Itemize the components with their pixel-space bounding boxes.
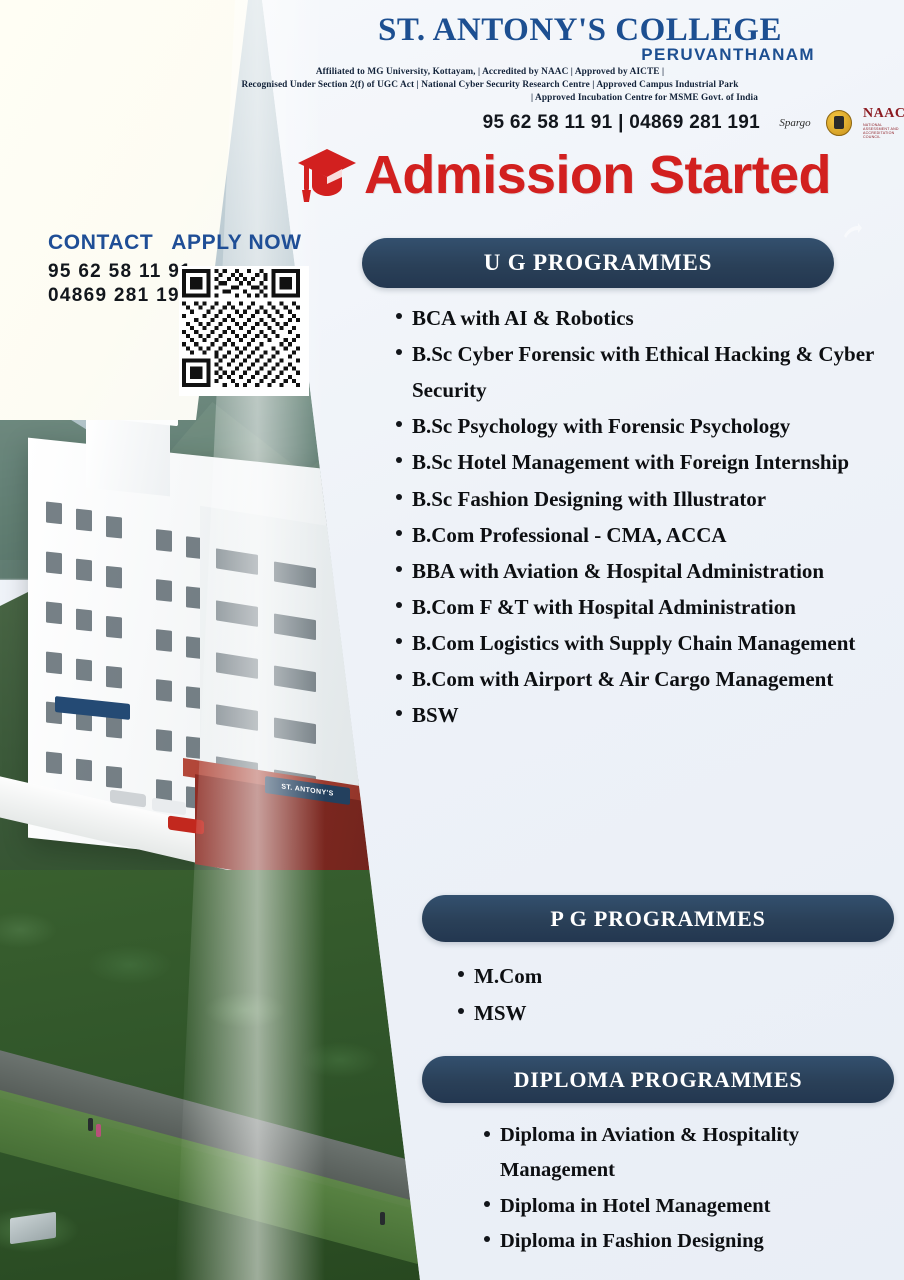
pedestrian — [88, 1118, 93, 1131]
diploma-programmes-list: Diploma in Aviation & Hospitality Manage… — [462, 1118, 904, 1259]
affiliation-line-2: Recognised Under Section 2(f) of UGC Act… — [200, 79, 780, 92]
pg-programmes-banner: P G PROGRAMMES — [422, 895, 894, 942]
list-item: MSW — [458, 995, 898, 1032]
naac-sublabel: NATIONAL ASSESSMENT AND ACCREDITATION CO… — [863, 123, 904, 139]
list-item: BSW — [396, 697, 904, 733]
list-item: BBA with Aviation & Hospital Administrat… — [396, 553, 904, 589]
list-item: Diploma in Hotel Management — [484, 1189, 904, 1224]
contact-label: Contact — [48, 232, 153, 253]
college-location: PERUVANTHANAM — [345, 46, 823, 63]
accreditation-text: Affiliated to MG University, Kottayam, |… — [200, 66, 780, 135]
building-tower — [86, 414, 170, 497]
pedestrian — [96, 1124, 101, 1137]
spargo-badge: Spargo — [775, 111, 815, 135]
college-name: ST. ANTONY'S COLLEGE — [345, 14, 815, 47]
list-item: B.Sc Cyber Forensic with Ethical Hacking… — [396, 336, 904, 408]
naac-label: NAAC — [863, 107, 904, 121]
iso-certification-badge — [826, 110, 852, 136]
list-item: BCA with AI & Robotics — [396, 300, 904, 336]
naac-badge: NAAC NATIONAL ASSESSMENT AND ACCREDITATI… — [863, 110, 904, 136]
header-phone-numbers: 95 62 58 11 91 | 04869 281 191 — [200, 111, 780, 135]
apply-now-label: Apply Now — [171, 232, 301, 253]
list-item: B.Sc Hotel Management with Foreign Inter… — [396, 444, 904, 480]
list-item: B.Com with Airport & Air Cargo Managemen… — [396, 661, 904, 697]
affiliation-line-1: Affiliated to MG University, Kottayam, |… — [200, 66, 780, 79]
admission-poster: ST. ANTONY'S ST. ANTONY'S COLLEGE PERUVA… — [0, 0, 904, 1280]
list-item: B.Com F &T with Hospital Administration — [396, 589, 904, 625]
pg-programmes-list: M.Com MSW — [436, 958, 898, 1033]
list-item: B.Com Professional - CMA, ACCA — [396, 517, 904, 553]
affiliation-line-3: | Approved Incubation Centre for MSME Go… — [200, 92, 780, 105]
list-item: B.Sc Fashion Designing with Illustrator — [396, 481, 904, 517]
list-item: Diploma in Aviation & Hospitality Manage… — [484, 1118, 904, 1189]
ug-programmes-list: BCA with AI & Robotics B.Sc Cyber Forens… — [374, 300, 904, 733]
arrow-decoration-icon — [840, 222, 862, 244]
accreditation-badges: Spargo NAAC NATIONAL ASSESSMENT AND ACCR… — [775, 106, 904, 140]
ug-programmes-banner: U G PROGRAMMES — [362, 238, 834, 288]
poster-header: ST. ANTONY'S COLLEGE PERUVANTHANAM Affil… — [200, 6, 904, 136]
diploma-programmes-banner: DIPLOMA PROGRAMMES — [422, 1056, 894, 1103]
graduation-cap-icon — [296, 146, 358, 204]
list-item: Diploma in Fashion Designing — [484, 1224, 904, 1259]
list-item: M.Com — [458, 958, 898, 995]
contact-section: Contact Apply Now 95 62 58 11 91 04869 2… — [48, 232, 302, 308]
pedestrian — [380, 1212, 385, 1225]
list-item: B.Sc Psychology with Forensic Psychology — [396, 408, 904, 444]
poster-title-row: Admission Started — [296, 140, 831, 210]
page-title: Admission Started — [364, 148, 831, 202]
list-item: B.Com Logistics with Supply Chain Manage… — [396, 625, 904, 661]
apply-now-qr-code[interactable] — [179, 266, 309, 396]
